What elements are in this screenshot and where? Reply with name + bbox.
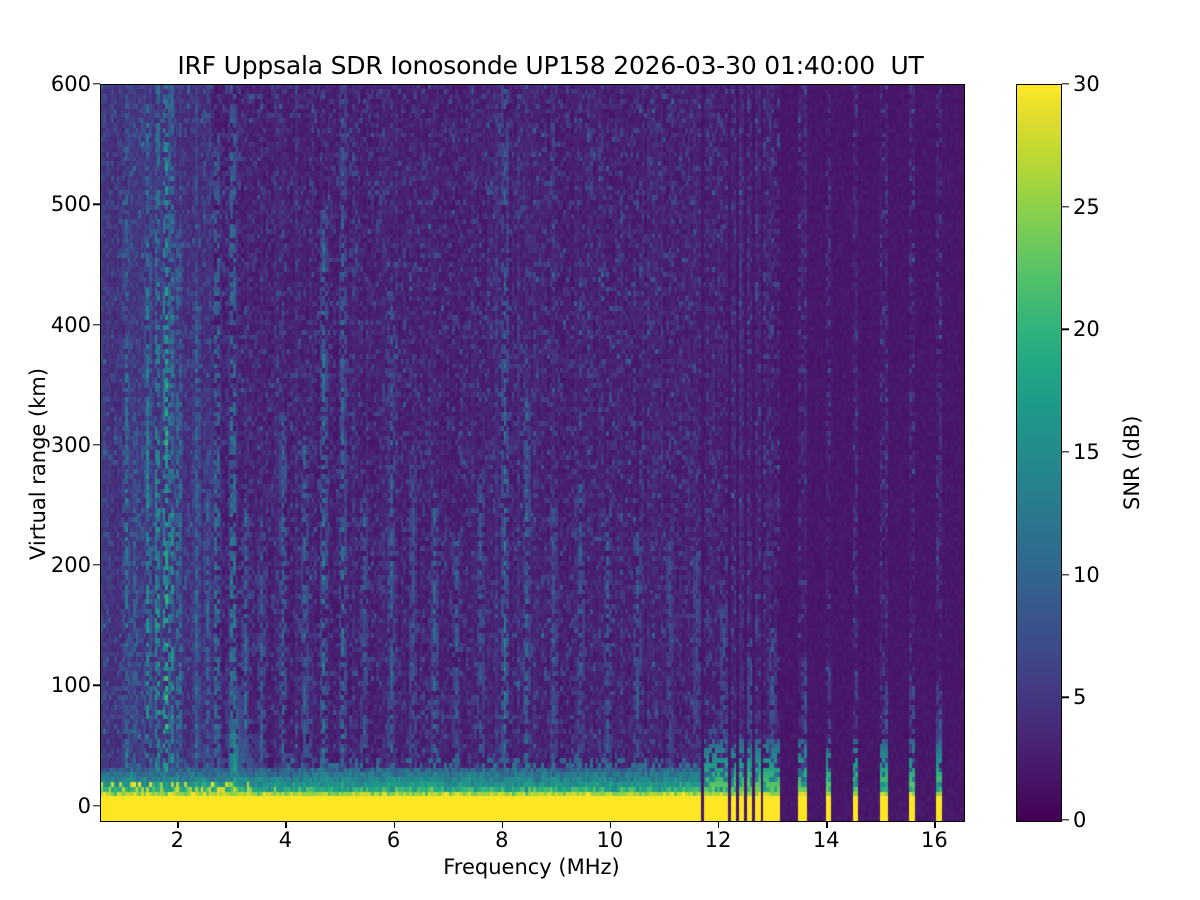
y-tick-label: 300 [1, 433, 91, 457]
y-tick-mark [93, 324, 100, 325]
colorbar-label: SNR (dB) [1120, 416, 1144, 510]
x-tick-label: 2 [147, 828, 207, 852]
colorbar-tick-mark [1062, 574, 1069, 575]
ionogram-plot-area[interactable] [100, 84, 965, 822]
y-tick-mark [93, 805, 100, 806]
colorbar-gradient [1017, 85, 1061, 821]
y-tick-label: 0 [1, 794, 91, 818]
x-tick-mark [394, 821, 395, 828]
colorbar-tick-mark [1062, 206, 1069, 207]
colorbar-tick-label: 15 [1073, 440, 1100, 464]
y-tick-mark [93, 444, 100, 445]
colorbar-tick-label: 20 [1073, 317, 1100, 341]
y-tick-label: 600 [1, 72, 91, 96]
x-axis-label: Frequency (MHz) [100, 855, 963, 879]
y-tick-mark [93, 564, 100, 565]
colorbar-tick-mark [1062, 819, 1069, 820]
x-tick-label: 4 [255, 828, 315, 852]
x-tick-label: 8 [472, 828, 532, 852]
colorbar-tick-label: 30 [1073, 72, 1100, 96]
x-tick-label: 14 [796, 828, 856, 852]
y-tick-mark [93, 685, 100, 686]
colorbar[interactable] [1016, 84, 1062, 822]
colorbar-tick-mark [1062, 83, 1069, 84]
colorbar-tick-label: 0 [1073, 808, 1086, 832]
y-tick-mark [93, 204, 100, 205]
x-tick-mark [285, 821, 286, 828]
y-tick-label: 100 [1, 673, 91, 697]
colorbar-tick-label: 10 [1073, 563, 1100, 587]
colorbar-tick-label: 25 [1073, 195, 1100, 219]
x-tick-mark [826, 821, 827, 828]
x-tick-label: 10 [580, 828, 640, 852]
y-axis-label: Virtual range (km) [26, 368, 50, 560]
ionogram-heatmap [101, 85, 964, 821]
y-tick-label: 500 [1, 192, 91, 216]
y-tick-mark [93, 83, 100, 84]
x-tick-label: 6 [364, 828, 424, 852]
colorbar-tick-mark [1062, 697, 1069, 698]
x-tick-label: 16 [904, 828, 964, 852]
y-tick-label: 200 [1, 553, 91, 577]
x-tick-mark [610, 821, 611, 828]
colorbar-tick-mark [1062, 451, 1069, 452]
y-tick-label: 400 [1, 313, 91, 337]
x-tick-mark [934, 821, 935, 828]
x-tick-mark [718, 821, 719, 828]
ionogram-figure: IRF Uppsala SDR Ionosonde UP158 2026-03-… [0, 0, 1200, 900]
x-tick-mark [177, 821, 178, 828]
colorbar-tick-mark [1062, 329, 1069, 330]
figure-title-line1: IRF Uppsala SDR Ionosonde UP158 2026-03-… [177, 51, 923, 80]
x-tick-mark [502, 821, 503, 828]
colorbar-tick-label: 5 [1073, 685, 1086, 709]
x-tick-label: 12 [688, 828, 748, 852]
